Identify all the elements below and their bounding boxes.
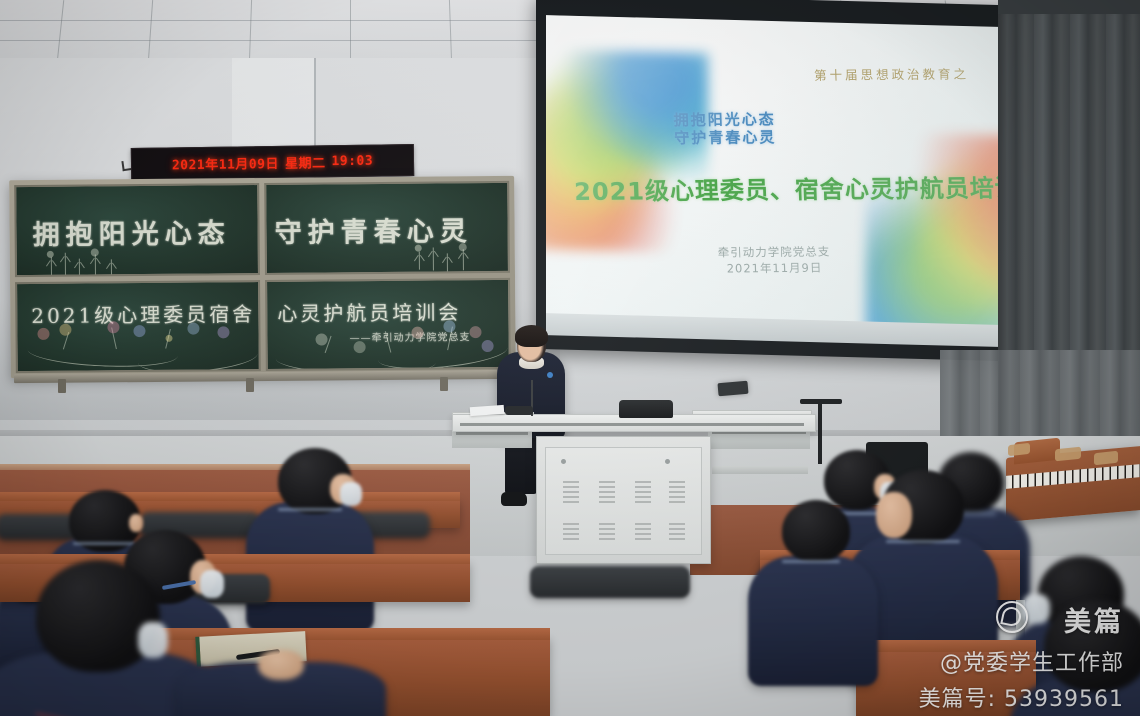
slide-main-title: 2021级心理委员、宿舍心灵护航员培训会: [574, 168, 1046, 207]
podium-lock: [561, 459, 566, 464]
speaker-stand-pole: [818, 402, 822, 464]
student-face-profile: [876, 492, 912, 538]
presenter-hair: [515, 325, 548, 347]
watermark-handle: @党委学生工作部: [940, 645, 1124, 677]
presenter-remote: [505, 406, 533, 415]
led-date: 2021年11月09日: [172, 152, 279, 172]
podium-left-slot: [456, 432, 528, 435]
chair-back: [530, 566, 690, 598]
blackboard-bracket: [246, 378, 254, 392]
slide-footer: 牵引动力学院党总支 2021年11月9日: [717, 245, 831, 277]
meipian-logo-icon: [996, 601, 1028, 633]
curtain-rod: [998, 0, 1140, 14]
piano-sheet: [1094, 451, 1118, 466]
face-mask: [200, 570, 224, 598]
slide-subtitle: 拥抱阳光心态 守护青春心灵: [673, 111, 776, 147]
blackboard-bracket: [440, 377, 448, 391]
blackboard-line-1: 拥抱阳光心态: [32, 211, 230, 252]
podium-cabinet: [536, 436, 711, 564]
blackboard-panel-top-right: 守护青春心灵: [264, 181, 510, 275]
podium-desktop-groove: [460, 423, 804, 426]
watermark-brand: 美篇: [1064, 600, 1124, 639]
student-writing-hand: [258, 650, 304, 680]
slide-subtitle-line-2: 守护青春心灵: [674, 129, 777, 148]
face-mask: [340, 482, 362, 506]
face-mask: [138, 622, 168, 658]
wall-mounted-device: [717, 381, 748, 397]
led-date-time-banner: 2021年11月09日 星期二 19:03: [131, 144, 414, 180]
slide-subtitle-line-1: 拥抱阳光心态: [673, 111, 776, 130]
piano-sheet: [1008, 443, 1030, 456]
desk-top-front-left: [130, 628, 550, 640]
desk-top-back-left: [0, 492, 460, 501]
student-ear: [129, 514, 143, 532]
podium-right-shelf: [712, 466, 808, 474]
desk-top-middle-left: [0, 554, 470, 564]
slide-kicker-text: 第十届思想政治教育之: [814, 63, 970, 83]
classroom-photo: 2021年11月09日 星期二 19:03 拥抱阳光心态 守护青春心灵: [0, 0, 1140, 716]
podium-monitor: [619, 400, 673, 418]
watercolor-splash-top-left: [546, 48, 708, 253]
blackboard-panel-bottom-right: 心灵护航员培训会 ——牵引动力学院党总支: [265, 277, 511, 371]
blackboard-panel-top-left: 拥抱阳光心态: [14, 183, 260, 277]
presenter-shoe: [501, 492, 527, 506]
presenter-badge: [547, 372, 553, 378]
blackboard-panel-bottom-left: 2021级心理委员宿舍: [15, 280, 261, 374]
projection-screen: 第十届思想政治教育之 拥抱阳光心态 守护青春心灵 2021级心理委员、宿舍心灵护…: [546, 15, 1074, 334]
blackboard-bracket: [58, 379, 66, 393]
blackboard-line-2: 守护青春心灵: [274, 209, 472, 250]
podium-lock: [665, 459, 670, 464]
slide-footer-org: 牵引动力学院党总支: [717, 245, 830, 262]
led-weekday: 星期二: [285, 152, 326, 172]
blackboard: 拥抱阳光心态 守护青春心灵 2021级心理委员宿舍: [9, 176, 516, 378]
led-time: 19:03: [331, 153, 373, 169]
watermark-id: 美篇号: 53939561: [919, 681, 1124, 713]
blackboard-line-4: 心灵护航员培训会: [277, 296, 461, 327]
slide-footer-date: 2021年11月9日: [718, 260, 831, 277]
